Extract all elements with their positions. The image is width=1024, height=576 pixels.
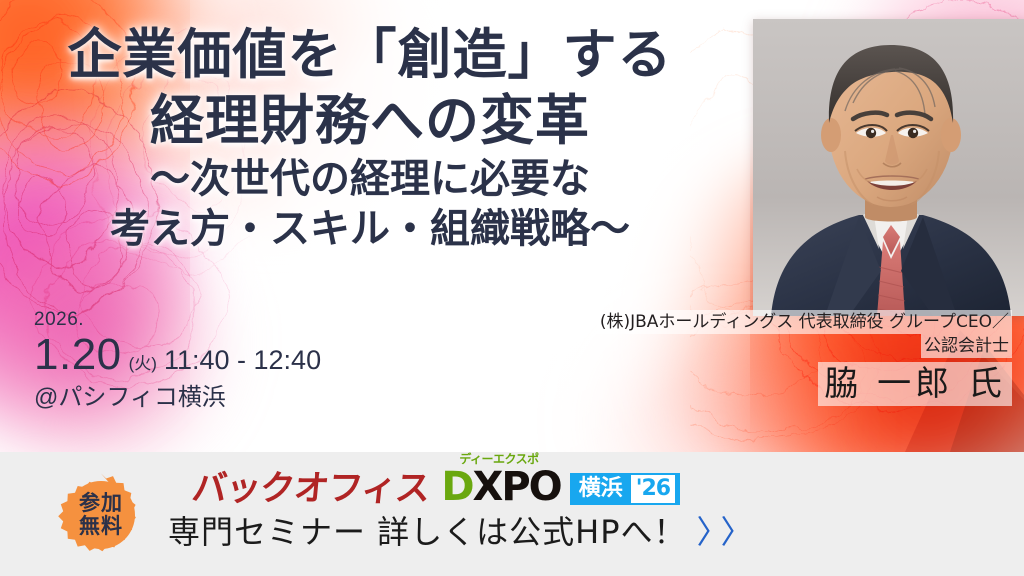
speaker-name: 脇 一郎 氏 bbox=[818, 362, 1012, 406]
event-date: 1.20 bbox=[34, 330, 122, 380]
banner-cta-text: 専門セミナー 詳しくは公式HPへ！ bbox=[168, 513, 687, 551]
logo-kana-ruby: ディーエクスポ bbox=[459, 453, 538, 465]
title-line-2: 経理財務への変革 bbox=[0, 88, 740, 154]
banner-cta[interactable]: 専門セミナー 詳しくは公式HPへ！〉〉 bbox=[168, 510, 761, 554]
speaker-credentials: (株)JBAホールディングス 代表取締役 グループCEO／ 公認会計士 脇 一郎… bbox=[412, 310, 1012, 406]
event-weekday: (火) bbox=[129, 352, 157, 376]
speaker-affiliation-line2: 公認会計士 bbox=[921, 334, 1012, 358]
seminar-poster: 企業価値を「創造」する 経理財務への変革 〜次世代の経理に必要な 考え方・スキル… bbox=[0, 0, 1024, 576]
bottom-banner: 参加 無料 バックオフィス ディーエクスポ DXPO 横浜 '26 専門セミナー… bbox=[0, 452, 1024, 576]
title-line-1: 企業価値を「創造」する bbox=[0, 22, 740, 88]
badge-line-1: 参加 bbox=[79, 492, 123, 515]
title-line-3: 〜次世代の経理に必要な bbox=[0, 154, 740, 204]
event-schedule: 2026. 1.20 (火) 11:40 - 12:40 @パシフィコ横浜 bbox=[34, 308, 321, 414]
event-time: 11:40 - 12:40 bbox=[164, 343, 321, 377]
city-year-badge: 横浜 '26 bbox=[570, 473, 680, 505]
logo-dxpo-text: DXPO bbox=[441, 464, 560, 510]
speaker-photo bbox=[753, 19, 1024, 316]
logo-dxpo-wordmark: ディーエクスポ DXPO bbox=[441, 466, 560, 508]
logo-letters-xpo: XPO bbox=[473, 464, 561, 510]
event-venue: @パシフィコ横浜 bbox=[34, 382, 321, 414]
dxpo-logo[interactable]: バックオフィス ディーエクスポ DXPO 横浜 '26 bbox=[192, 466, 680, 508]
badge-line-2: 無料 bbox=[79, 515, 123, 538]
event-year: 2026. bbox=[34, 308, 321, 332]
city-label: 横浜 bbox=[575, 477, 627, 501]
logo-backoffice-text: バックオフィス bbox=[190, 470, 431, 508]
year-label: '26 bbox=[631, 475, 675, 503]
poster-title: 企業価値を「創造」する 経理財務への変革 〜次世代の経理に必要な 考え方・スキル… bbox=[0, 22, 740, 254]
speaker-affiliation-line1: (株)JBAホールディングス 代表取締役 グループCEO／ bbox=[597, 310, 1012, 334]
chevron-right-icon: 〉〉 bbox=[697, 513, 761, 551]
title-line-4: 考え方・スキル・組織戦略〜 bbox=[0, 204, 740, 254]
free-admission-label: 参加 無料 bbox=[58, 472, 144, 558]
free-admission-badge: 参加 無料 bbox=[58, 472, 144, 558]
logo-letter-d: D bbox=[441, 464, 472, 510]
